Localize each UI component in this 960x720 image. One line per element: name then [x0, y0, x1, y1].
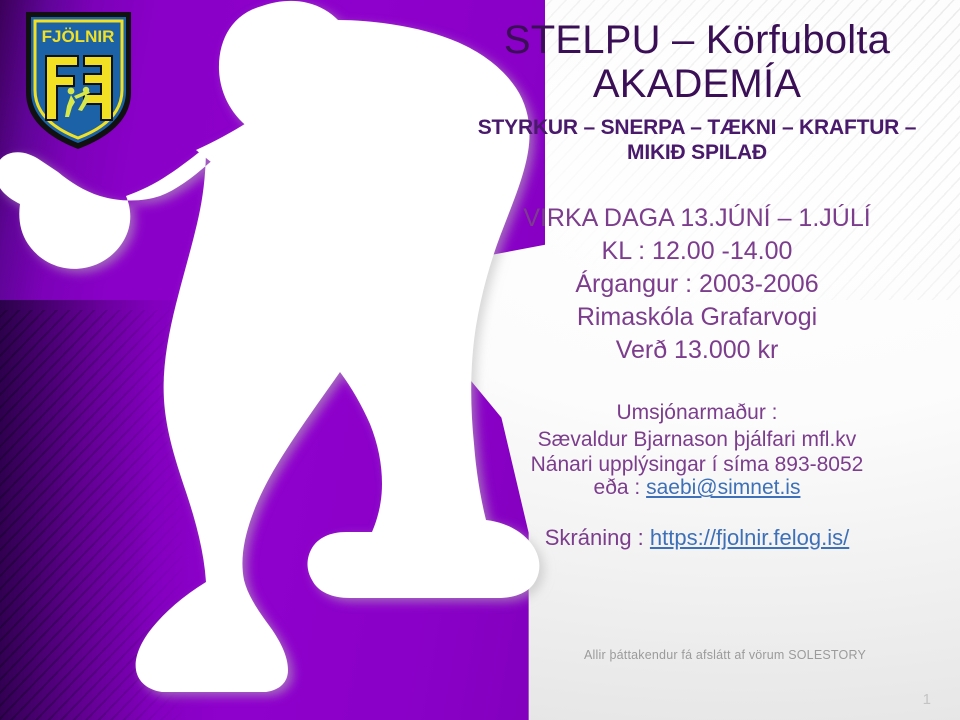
crest-club-name: FJÖLNIR	[42, 27, 115, 46]
signup-line: Skráning : https://fjolnir.felog.is/	[462, 525, 932, 551]
info-time: KL : 12.00 -14.00	[462, 235, 932, 268]
email-line: eða : saebi@simnet.is	[462, 476, 932, 499]
supervisor-label: Umsjónarmaður :	[462, 399, 932, 426]
fjolnir-crest-logo: FJÖLNIR	[16, 4, 141, 154]
signup-block: Skráning : https://fjolnir.felog.is/	[462, 525, 932, 551]
slide-text-content: STELPU – Körfubolta AKADEMÍA STYRKUR – S…	[462, 18, 932, 551]
email-link[interactable]: saebi@simnet.is	[646, 476, 800, 499]
subtitle-line-2: MIKIÐ SPILAÐ	[627, 141, 767, 164]
footer-note: Allir þáttakendur fá afslátt af vörum SO…	[520, 648, 930, 662]
subtitle-line-1: STYRKUR – SNERPA – TÆKNI – KRAFTUR –	[478, 116, 917, 139]
title-line-2: AKADEMÍA	[593, 62, 801, 106]
email-prefix: eða :	[594, 476, 641, 499]
info-price: Verð 13.000 kr	[462, 334, 932, 367]
info-location: Rimaskóla Grafarvogi	[462, 301, 932, 334]
slide-number: 1	[923, 691, 931, 708]
course-info-block: VIRKA DAGA 13.JÚNÍ – 1.JÚLÍ KL : 12.00 -…	[462, 202, 932, 367]
presentation-slide: FJÖLNIR STELPU – Körfubolta AKADEMÍA STY…	[0, 0, 960, 720]
signup-label: Skráning :	[545, 525, 644, 550]
contact-block: Umsjónarmaður : Sævaldur Bjarnason þjálf…	[462, 399, 932, 500]
page-subtitle: STYRKUR – SNERPA – TÆKNI – KRAFTUR – MIK…	[462, 116, 932, 166]
phone-line: Nánari upplýsingar í síma 893-8052	[462, 453, 932, 476]
page-title: STELPU – Körfubolta AKADEMÍA	[462, 18, 932, 106]
signup-url-link[interactable]: https://fjolnir.felog.is/	[650, 525, 849, 550]
info-age-group: Árgangur : 2003-2006	[462, 268, 932, 301]
info-dates: VIRKA DAGA 13.JÚNÍ – 1.JÚLÍ	[462, 202, 932, 235]
supervisor-name: Sævaldur Bjarnason þjálfari mfl.kv	[462, 426, 932, 453]
title-line-1: STELPU – Körfubolta	[504, 18, 890, 62]
